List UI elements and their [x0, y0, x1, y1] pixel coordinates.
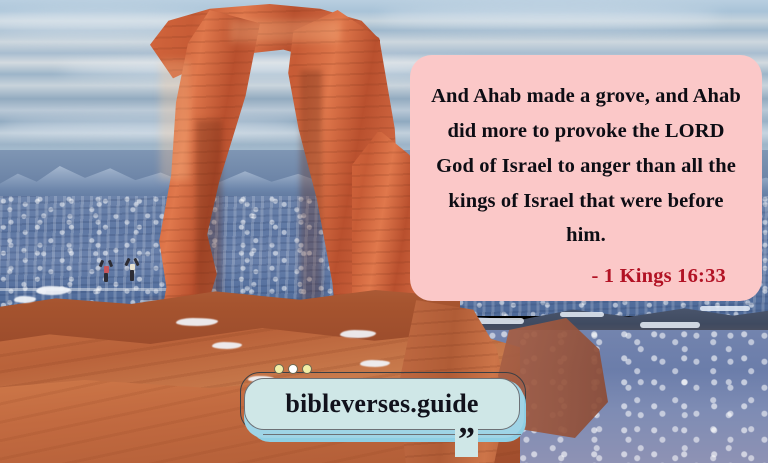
banner-body[interactable]: bibleverses.guide ”: [244, 378, 520, 430]
verse-card: And Ahab made a grove, and Ahab did more…: [410, 55, 762, 301]
site-url-label: bibleverses.guide: [285, 389, 478, 419]
arch-shading: [300, 70, 322, 300]
arch-highlight: [230, 20, 340, 42]
dot-yellow-right: [302, 364, 312, 374]
quote-mark-icon: ”: [455, 423, 478, 457]
arch-shading: [196, 120, 222, 310]
url-banner[interactable]: bibleverses.guide ”: [236, 368, 528, 446]
banner-rule: [263, 434, 521, 435]
verse-text: And Ahab made a grove, and Ahab did more…: [430, 79, 742, 253]
dot-yellow-left: [274, 364, 284, 374]
arch-highlight: [160, 60, 190, 180]
banner-dots: [274, 364, 312, 374]
verse-image: And Ahab made a grove, and Ahab did more…: [0, 0, 768, 463]
verse-reference: - 1 Kings 16:33: [430, 265, 742, 288]
dot-white-center: [288, 364, 298, 374]
